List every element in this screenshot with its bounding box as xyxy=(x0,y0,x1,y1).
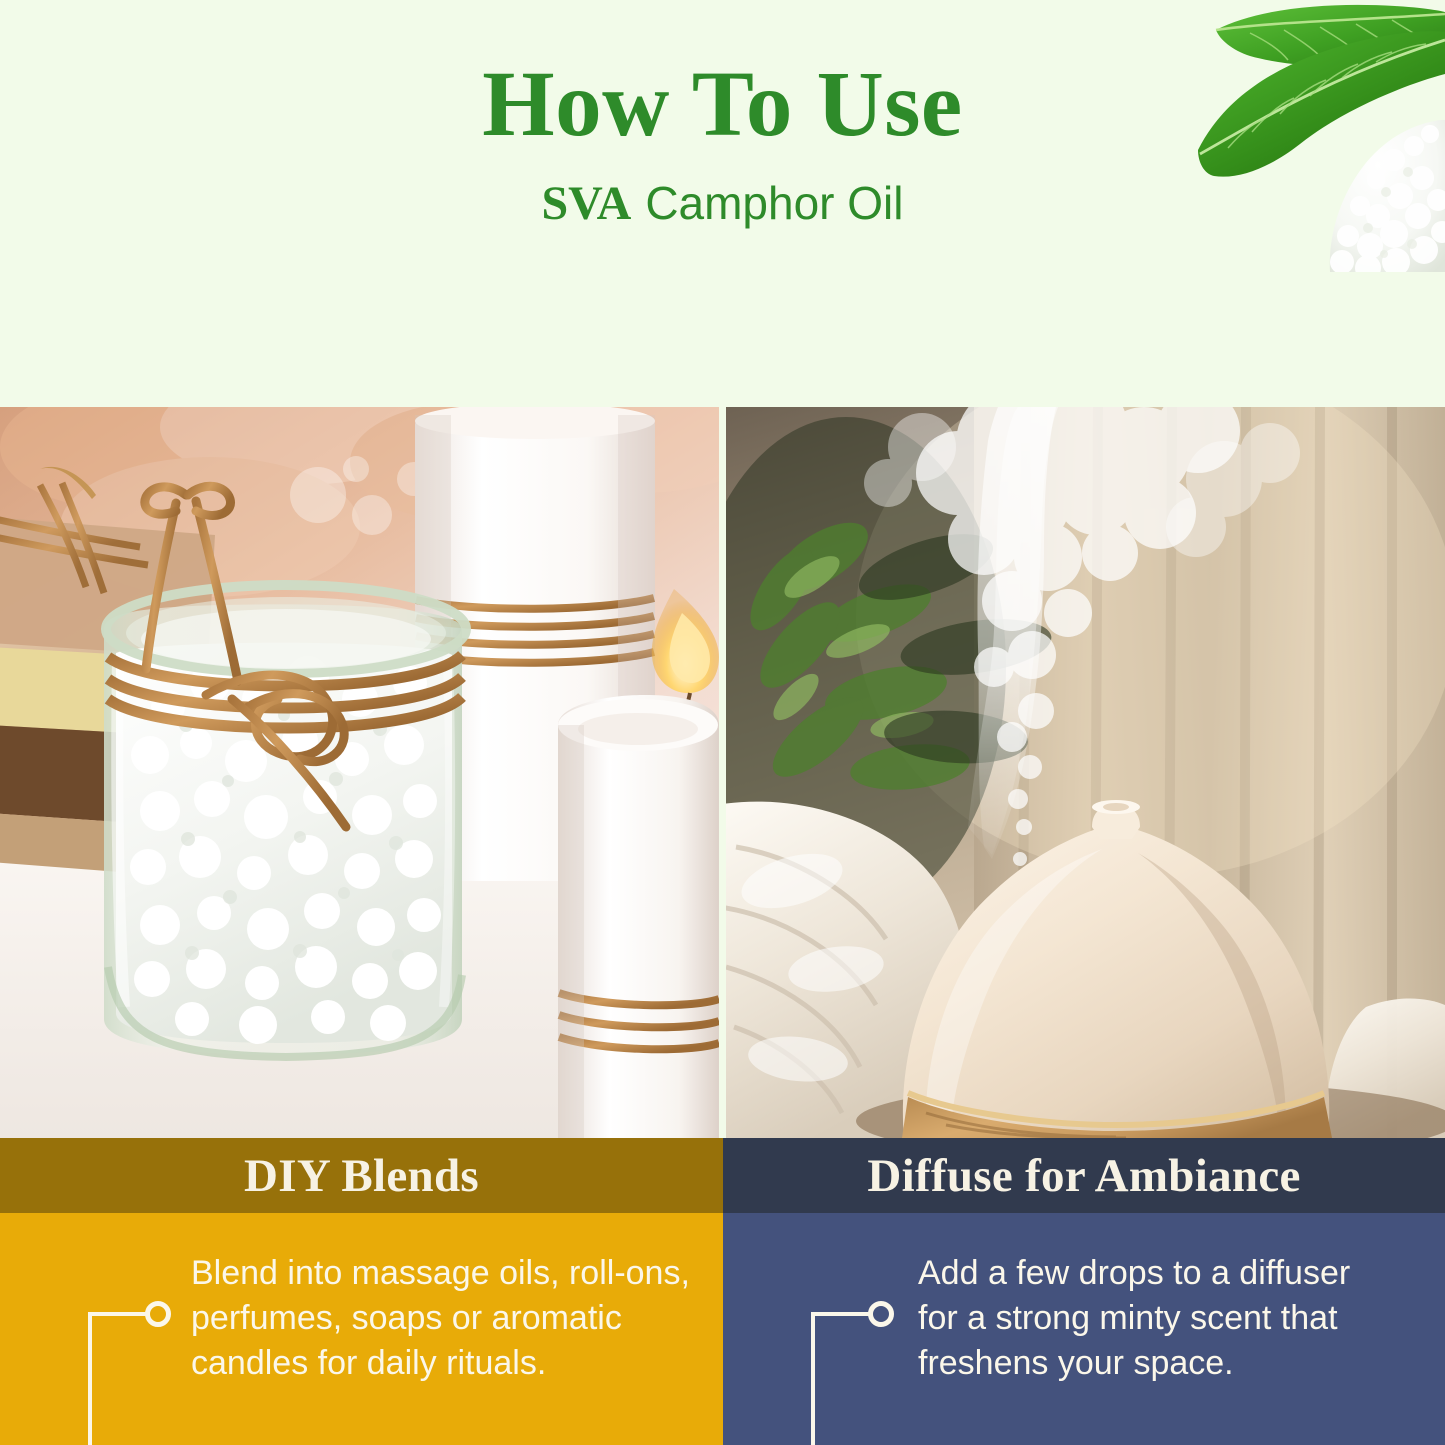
connector-ring-icon xyxy=(145,1301,171,1327)
panel-description-diffuse-for-ambiance: Add a few drops to a diffuser for a stro… xyxy=(918,1251,1388,1386)
header-section: How To Use SVACamphor Oil xyxy=(0,0,1445,407)
panel-title-diffuse-for-ambiance: Diffuse for Ambiance xyxy=(867,1149,1300,1203)
connector-vertical-line xyxy=(811,1312,815,1445)
panel-title-band-diffuse-for-ambiance: Diffuse for Ambiance xyxy=(723,1138,1445,1213)
photo-diy-blends xyxy=(0,407,719,1138)
how-to-use-infographic: How To Use SVACamphor Oil xyxy=(0,0,1445,1445)
photo-row xyxy=(0,407,1445,1138)
panel-title-band-diy-blends: DIY Blends xyxy=(0,1138,723,1213)
connector-horizontal-line xyxy=(811,1312,871,1316)
product-name: Camphor Oil xyxy=(645,177,903,229)
photo-divider xyxy=(719,407,726,1138)
connector-ring-icon xyxy=(868,1301,894,1327)
photo-diffuse-for-ambiance xyxy=(726,407,1445,1138)
camphor-leaves-crystals-icon xyxy=(1180,0,1445,272)
panel-title-diy-blends: DIY Blends xyxy=(244,1149,479,1203)
connector-horizontal-line xyxy=(88,1312,148,1316)
connector-vertical-line xyxy=(88,1312,92,1445)
brand-name: SVA xyxy=(541,177,631,230)
panel-description-diy-blends: Blend into massage oils, roll-ons, perfu… xyxy=(191,1251,704,1386)
